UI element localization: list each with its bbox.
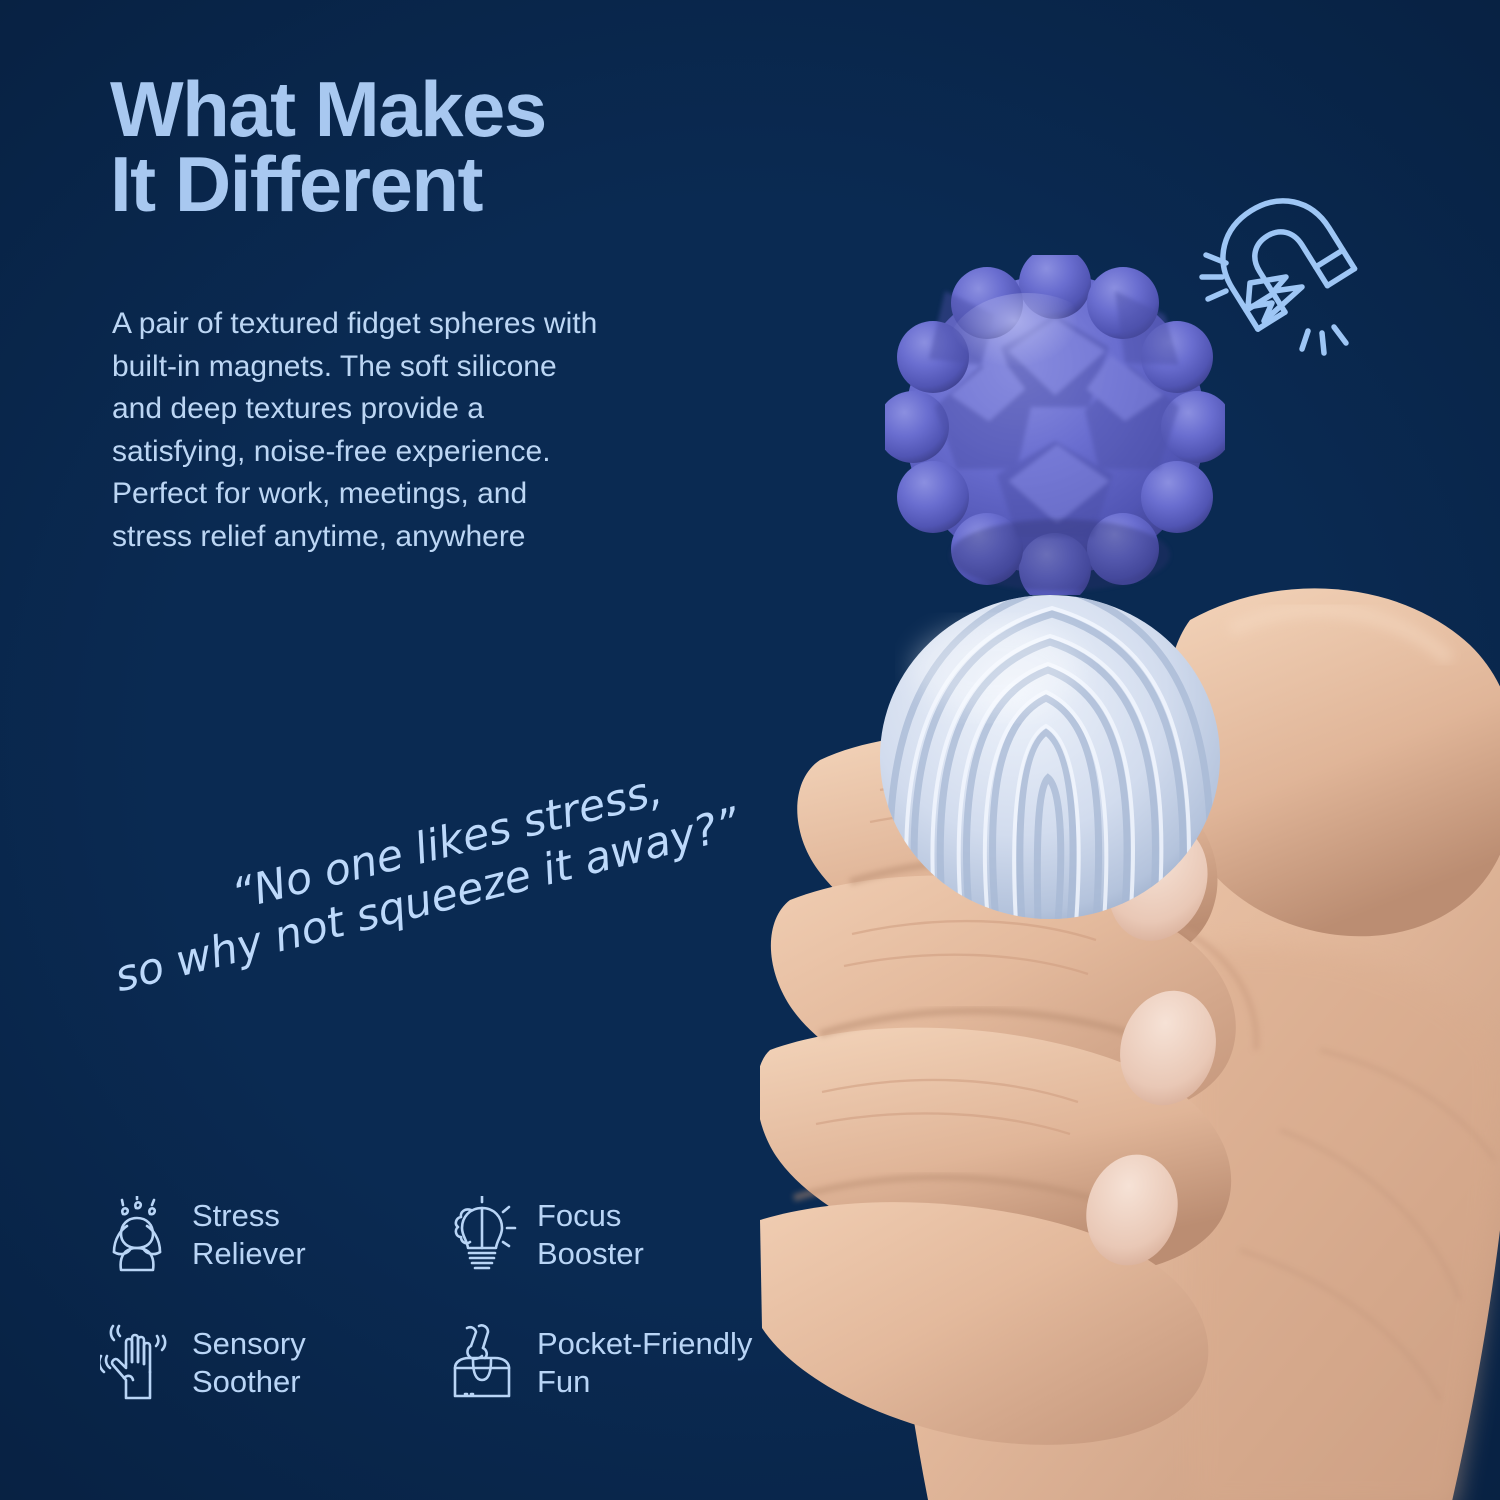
feature-item-stress-reliever: Stress Reliever	[100, 1196, 445, 1274]
feature-item-pocket-friendly-fun: Pocket-Friendly Fun	[445, 1324, 752, 1402]
page-title: What Makes It Different	[110, 72, 546, 222]
stressed-person-icon	[100, 1196, 174, 1274]
horseshoe-magnet-icon	[1190, 185, 1380, 360]
quote-block: “No one likes stress, so why not squeeze…	[58, 775, 838, 1005]
feature-row-1: Stress Reliever Focus Booster	[100, 1196, 860, 1274]
feature-label: Pocket-Friendly Fun	[537, 1325, 752, 1401]
feature-label: Sensory Soother	[192, 1325, 306, 1401]
feature-label: Focus Booster	[537, 1197, 644, 1273]
hand-vibration-icon	[100, 1324, 174, 1402]
feature-label: Stress Reliever	[192, 1197, 306, 1273]
hand-in-pocket-icon	[445, 1324, 519, 1402]
feature-list: Stress Reliever Focus Booster	[100, 1196, 860, 1402]
product-description: A pair of textured fidget spheres with b…	[112, 303, 772, 559]
feature-item-sensory-soother: Sensory Soother	[100, 1324, 445, 1402]
feature-row-2: Sensory Soother Pocket-Friendly Fu	[100, 1324, 860, 1402]
product-feature-poster: What Makes It Different A pair of textur…	[0, 0, 1500, 1500]
ridged-white-fidget-sphere	[878, 592, 1223, 922]
faceted-purple-fidget-sphere	[885, 255, 1225, 595]
brain-lightbulb-icon	[445, 1196, 519, 1274]
feature-item-focus-booster: Focus Booster	[445, 1196, 644, 1274]
feature-row-gap	[100, 1274, 860, 1324]
